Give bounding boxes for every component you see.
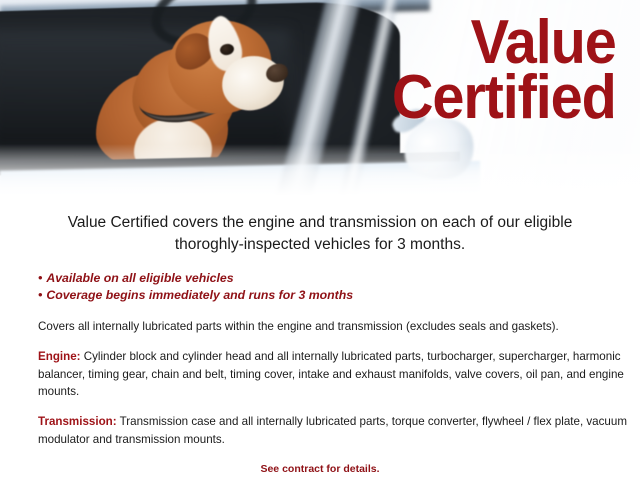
coverage-summary-paragraph: Covers all internally lubricated parts w… <box>0 318 640 335</box>
headline: Value Certified <box>375 16 616 125</box>
transmission-coverage-text: Transmission case and all internally lub… <box>38 415 627 445</box>
engine-coverage-text: Cylinder block and cylinder head and all… <box>38 350 624 398</box>
hero-bottom-fade <box>0 144 640 196</box>
engine-label: Engine: <box>38 350 81 363</box>
transmission-coverage-paragraph: Transmission: Transmission case and all … <box>0 413 640 448</box>
headline-line-2: Certified <box>392 71 616 126</box>
transmission-label: Transmission: <box>38 415 117 428</box>
contract-footnote: See contract for details. <box>0 463 640 475</box>
lead-paragraph: Value Certified covers the engine and tr… <box>0 196 640 256</box>
value-certified-flyer: Value Certified Value Certified covers t… <box>0 0 640 480</box>
benefit-bullet-list: Available on all eligible vehicles Cover… <box>0 270 640 305</box>
engine-coverage-paragraph: Engine: Cylinder block and cylinder head… <box>0 348 640 400</box>
body-content: Value Certified covers the engine and tr… <box>0 196 640 475</box>
list-item: Coverage begins immediately and runs for… <box>38 287 640 304</box>
hero-photo: Value Certified <box>0 0 640 196</box>
list-item: Available on all eligible vehicles <box>38 270 640 287</box>
